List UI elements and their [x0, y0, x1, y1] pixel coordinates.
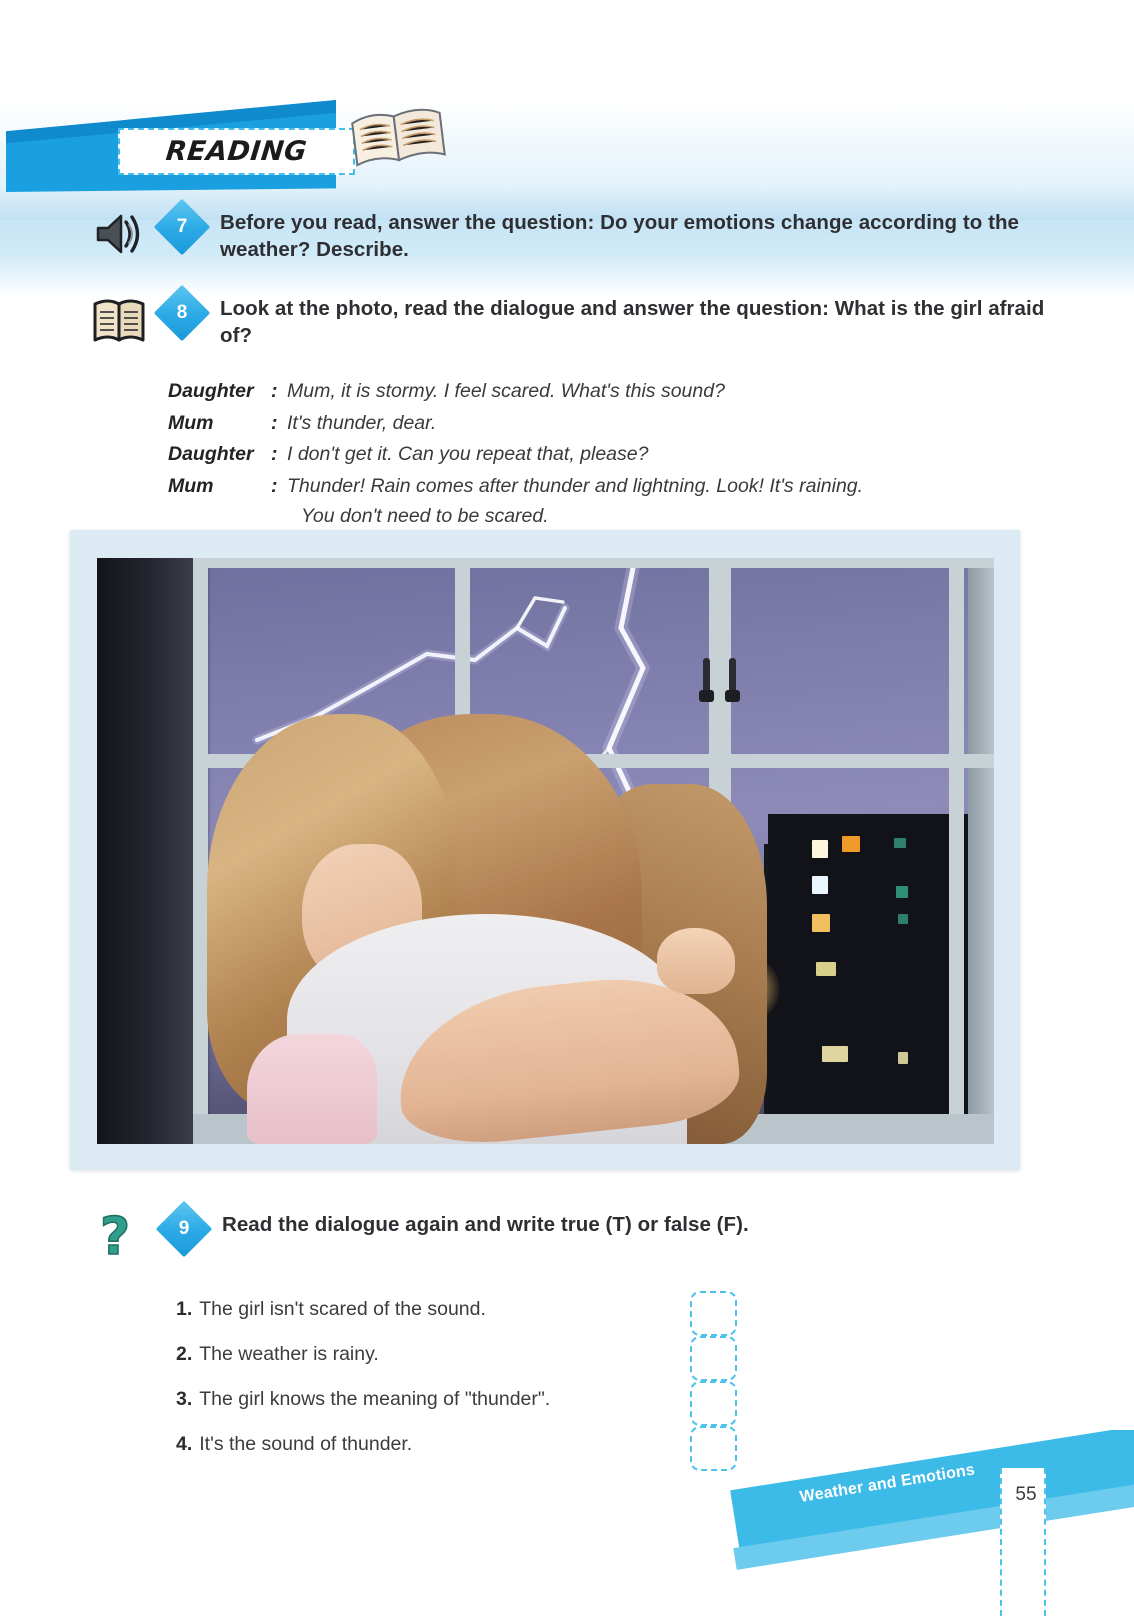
- exercise-number: 7: [154, 206, 210, 248]
- dialogue-block: Daughter : Mum, it is stormy. I feel sca…: [168, 376, 1038, 532]
- open-book-icon: [90, 292, 150, 348]
- answer-box[interactable]: [690, 1291, 737, 1336]
- window-handle-icon: [693, 656, 753, 716]
- window-light: [812, 914, 830, 932]
- question-mark-icon: ?: [92, 1208, 152, 1264]
- dialogue-line: Daughter : I don't get it. Can you repea…: [168, 439, 1038, 471]
- storm-photo: [97, 558, 994, 1144]
- dialogue-line: Mum : It's thunder, dear.: [168, 408, 1038, 440]
- window-light: [896, 886, 908, 898]
- svg-text:?: ?: [100, 1208, 130, 1264]
- answer-box-group: [690, 1291, 737, 1471]
- unit-title: Weather and Emotions: [799, 1461, 977, 1506]
- answer-box[interactable]: [690, 1381, 737, 1426]
- exercise-number: 8: [154, 292, 210, 334]
- section-title: READING: [164, 136, 308, 167]
- window-light: [898, 1052, 908, 1064]
- building-silhouette-near: [768, 814, 968, 1144]
- exercise-instruction: Before you read, answer the question: Do…: [220, 206, 1050, 263]
- window-mullion-horizontal: [193, 558, 994, 568]
- dialogue-line: Mum : Thunder! Rain comes after thunder …: [168, 471, 1038, 503]
- exercise-9: ? 9 Read the dialogue again and write tr…: [92, 1208, 1052, 1264]
- window-light: [816, 962, 836, 976]
- dialogue-text: I don't get it. Can you repeat that, ple…: [287, 439, 648, 471]
- answer-box[interactable]: [690, 1426, 737, 1471]
- window-light: [898, 914, 908, 924]
- window-light: [812, 840, 828, 858]
- exercise-8: 8 Look at the photo, read the dialogue a…: [90, 292, 1050, 349]
- item-number: 3.: [176, 1388, 192, 1411]
- dialogue-colon: :: [271, 376, 287, 408]
- item-text: The girl knows the meaning of "thunder".: [199, 1388, 550, 1411]
- dialogue-line: Daughter : Mum, it is stormy. I feel sca…: [168, 376, 1038, 408]
- open-book-icon: [347, 98, 450, 171]
- dialogue-text: Mum, it is stormy. I feel scared. What's…: [287, 376, 725, 408]
- exercise-number-badge-7: 7: [154, 206, 210, 262]
- dialogue-speaker: Daughter: [168, 376, 271, 408]
- answer-box[interactable]: [690, 1336, 737, 1381]
- dialogue-text: It's thunder, dear.: [287, 408, 436, 440]
- exercise-number-badge-9: 9: [156, 1208, 212, 1264]
- exercise-instruction: Look at the photo, read the dialogue and…: [220, 292, 1050, 349]
- dialogue-colon: :: [271, 439, 287, 471]
- item-text: The weather is rainy.: [199, 1343, 379, 1366]
- exercise-number-badge-8: 8: [154, 292, 210, 348]
- item-number: 4.: [176, 1433, 192, 1456]
- dialogue-text: Thunder! Rain comes after thunder and li…: [287, 471, 863, 503]
- dialogue-continuation: You don't need to be scared.: [168, 502, 1038, 531]
- item-text: The girl isn't scared of the sound.: [199, 1298, 486, 1321]
- item-number: 1.: [176, 1298, 192, 1321]
- page-number: 55: [1003, 1484, 1049, 1506]
- photo-frame: [70, 530, 1020, 1170]
- item-text: It's the sound of thunder.: [199, 1433, 412, 1456]
- window-light: [822, 1046, 848, 1062]
- girl-sleeve: [247, 1034, 377, 1144]
- window-light: [842, 836, 860, 852]
- dialogue-colon: :: [271, 471, 287, 503]
- window-mullion-vertical: [193, 558, 208, 1144]
- interior-wall-right: [968, 558, 994, 1144]
- interior-wall-left: [97, 558, 193, 1144]
- speaker-audio-icon: [90, 206, 150, 262]
- exercise-number: 9: [156, 1208, 212, 1250]
- window-mullion-vertical: [949, 558, 964, 1144]
- exercise-instruction: Read the dialogue again and write true (…: [222, 1208, 749, 1238]
- banner-label-box: READING: [118, 128, 355, 175]
- dialogue-colon: :: [271, 408, 287, 440]
- dialogue-speaker: Daughter: [168, 439, 271, 471]
- girl-hand: [657, 928, 735, 994]
- exercise-7: 7 Before you read, answer the question: …: [90, 206, 1050, 263]
- dialogue-speaker: Mum: [168, 471, 271, 503]
- dialogue-speaker: Mum: [168, 408, 271, 440]
- item-number: 2.: [176, 1343, 192, 1366]
- window-light: [894, 838, 906, 848]
- window-light: [812, 876, 828, 894]
